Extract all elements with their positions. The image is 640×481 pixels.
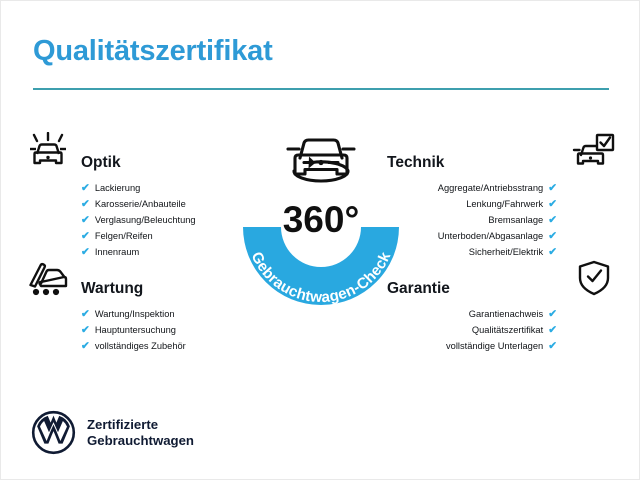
car-wrench-icon xyxy=(25,257,71,299)
list-item: ✔Verglasung/Beleuchtung xyxy=(81,212,251,228)
list-item-label: vollständige Unterlagen xyxy=(446,338,543,354)
list-item-label: Lackierung xyxy=(95,180,140,196)
section-garantie: Garantie ✔Garantienachweis ✔Qualitätszer… xyxy=(387,257,617,370)
check-icon: ✔ xyxy=(81,325,90,336)
check-icon: ✔ xyxy=(81,231,90,242)
check-icon: ✔ xyxy=(548,341,557,352)
footer-brand-text: ZertifizierteGebrauchtwagen xyxy=(87,417,194,449)
list-item: ✔Karosserie/Anbauteile xyxy=(81,196,251,212)
check-icon: ✔ xyxy=(548,199,557,210)
page-title: Qualitätszertifikat xyxy=(33,35,273,68)
badge-center-label: 360° xyxy=(283,199,360,240)
check-icon: ✔ xyxy=(548,309,557,320)
list-item: ✔vollständige Unterlagen xyxy=(387,338,557,354)
check-icon: ✔ xyxy=(548,247,557,258)
section-wartung-title: Wartung xyxy=(81,280,143,297)
list-item-label: Lenkung/Fahrwerk xyxy=(466,196,543,212)
list-item-label: Felgen/Reifen xyxy=(95,228,153,244)
section-optik: Optik ✔Lackierung ✔Karosserie/Anbauteile… xyxy=(25,131,255,276)
section-optik-header: Optik xyxy=(25,131,255,173)
list-item-label: Aggregate/Antriebsstrang xyxy=(438,180,543,196)
check-icon: ✔ xyxy=(81,183,90,194)
car-front-rotate-icon xyxy=(288,140,354,181)
list-item-label: Verglasung/Beleuchtung xyxy=(95,212,196,228)
list-item-label: Garantienachweis xyxy=(469,306,543,322)
shield-check-icon xyxy=(571,257,617,299)
footer-brand: ZertifizierteGebrauchtwagen xyxy=(31,410,194,455)
check-icon: ✔ xyxy=(548,215,557,226)
list-item: ✔Lackierung xyxy=(81,180,251,196)
section-optik-title: Optik xyxy=(81,154,121,171)
list-item: ✔Hauptuntersuchung xyxy=(81,322,251,338)
header-divider xyxy=(33,88,609,90)
list-item-label: Qualitätszertifikat xyxy=(472,322,543,338)
section-wartung-header: Wartung xyxy=(25,257,255,299)
check-icon: ✔ xyxy=(548,325,557,336)
section-technik: Technik ✔Aggregate/Antriebsstrang ✔Lenku… xyxy=(387,131,617,276)
section-wartung-list: ✔Wartung/Inspektion ✔Hauptuntersuchung ✔… xyxy=(81,306,251,354)
car-checkbox-icon xyxy=(571,131,617,173)
list-item: ✔Wartung/Inspektion xyxy=(81,306,251,322)
footer-line-1: Zertifizierte xyxy=(87,417,158,432)
check-icon: ✔ xyxy=(81,215,90,226)
section-technik-header: Technik xyxy=(387,131,617,173)
list-item-label: Wartung/Inspektion xyxy=(95,306,175,322)
check-icon: ✔ xyxy=(81,247,90,258)
car-shine-icon xyxy=(25,131,71,173)
list-item-label: Hauptuntersuchung xyxy=(95,322,176,338)
check-icon: ✔ xyxy=(548,183,557,194)
section-wartung: Wartung ✔Wartung/Inspektion ✔Hauptunters… xyxy=(25,257,255,370)
check-icon: ✔ xyxy=(81,199,90,210)
check-icon: ✔ xyxy=(81,309,90,320)
section-garantie-list: ✔Garantienachweis ✔Qualitätszertifikat ✔… xyxy=(387,306,557,354)
list-item-label: Bremsanlage xyxy=(488,212,543,228)
list-item: ✔Qualitätszertifikat xyxy=(387,322,557,338)
list-item-label: Karosserie/Anbauteile xyxy=(95,196,186,212)
certificate-page: Qualitätszertifikat xyxy=(1,1,640,481)
list-item-label: vollständiges Zubehör xyxy=(95,338,186,354)
gebrauchtwagen-check-badge: 360° Gebrauchtwagen-Check xyxy=(228,119,414,311)
volkswagen-logo xyxy=(31,410,76,455)
section-garantie-header: Garantie xyxy=(387,257,617,299)
list-item: ✔vollständiges Zubehör xyxy=(81,338,251,354)
footer-line-2: Gebrauchtwagen xyxy=(87,433,194,448)
section-optik-list: ✔Lackierung ✔Karosserie/Anbauteile ✔Verg… xyxy=(81,180,251,260)
list-item-label: Unterboden/Abgasanlage xyxy=(438,228,543,244)
check-icon: ✔ xyxy=(548,231,557,242)
list-item: ✔Felgen/Reifen xyxy=(81,228,251,244)
check-icon: ✔ xyxy=(81,341,90,352)
